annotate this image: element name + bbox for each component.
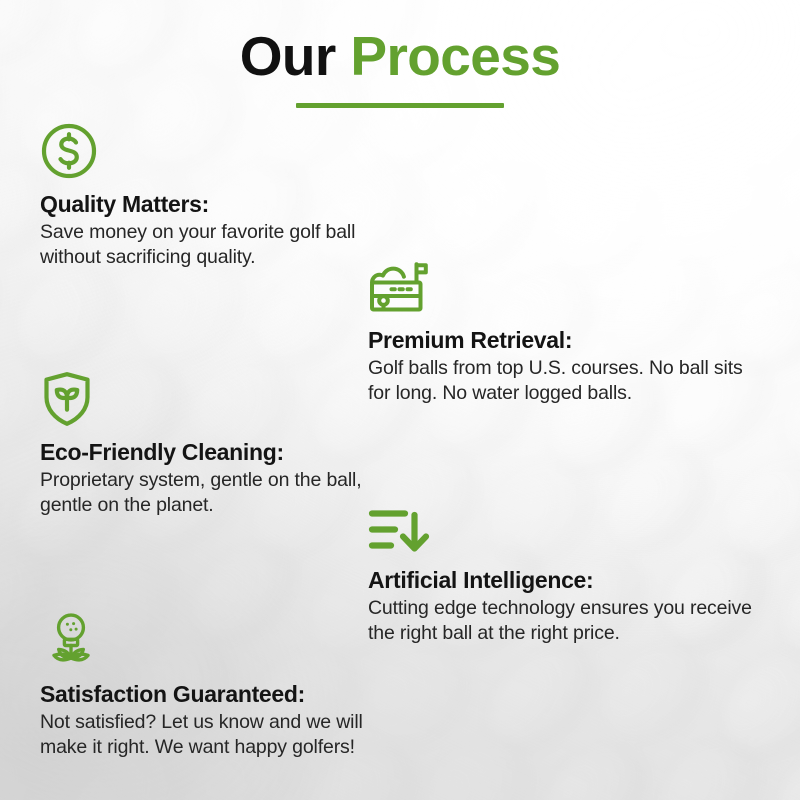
poster-content: Our Process Quality Matters: Save money … [0, 0, 800, 800]
feature-artificial-intelligence: Artificial Intelligence: Cutting edge te… [368, 506, 768, 647]
shield-leaf-icon [40, 370, 400, 428]
feature-premium-retrieval: Premium Retrieval: Golf balls from top U… [368, 258, 768, 407]
feature-heading: Quality Matters: [40, 190, 400, 218]
page-title: Our Process [0, 28, 800, 108]
feature-heading: Eco-Friendly Cleaning: [40, 438, 400, 466]
feature-body: Proprietary system, gentle on the ball, … [40, 468, 400, 519]
title-text: Our Process [0, 28, 800, 86]
feature-heading: Satisfaction Guaranteed: [40, 680, 400, 708]
feature-satisfaction-guaranteed: Satisfaction Guaranteed: Not satisfied? … [40, 612, 400, 761]
feature-heading: Premium Retrieval: [368, 326, 768, 354]
poster-canvas: Our Process Quality Matters: Save money … [0, 0, 800, 800]
title-word-process: Process [350, 25, 560, 87]
feature-heading: Artificial Intelligence: [368, 566, 768, 594]
feature-body: Not satisfied? Let us know and we will m… [40, 710, 400, 761]
dollar-circle-icon [40, 122, 400, 180]
golf-ball-tee-grass-icon [40, 612, 400, 670]
title-underline-rule [296, 103, 504, 108]
title-word-our: Our [240, 25, 336, 87]
golf-course-flag-icon [368, 258, 768, 316]
feature-body: Save money on your favorite golf ball wi… [40, 220, 400, 271]
feature-quality-matters: Quality Matters: Save money on your favo… [40, 122, 400, 271]
feature-eco-friendly-cleaning: Eco-Friendly Cleaning: Proprietary syste… [40, 370, 400, 519]
feature-body: Golf balls from top U.S. courses. No bal… [368, 356, 768, 407]
sort-descending-icon [368, 506, 768, 556]
feature-body: Cutting edge technology ensures you rece… [368, 596, 768, 647]
